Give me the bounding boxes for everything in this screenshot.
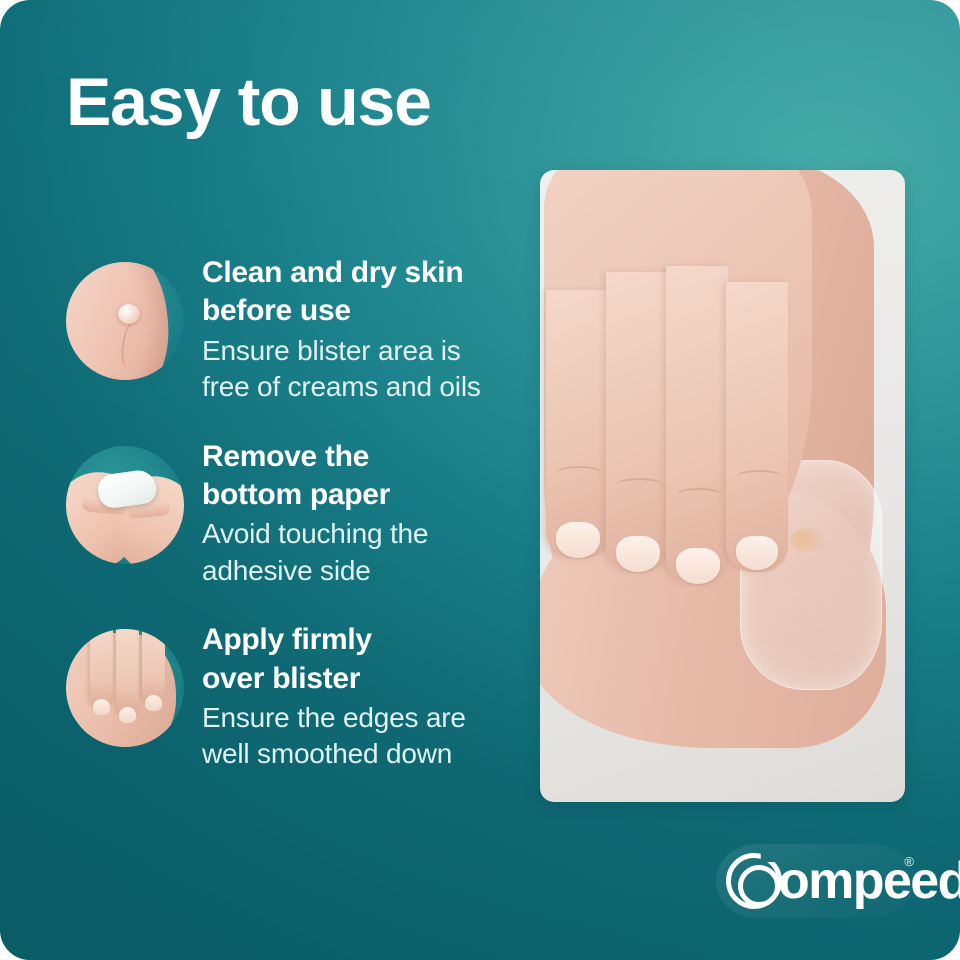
finger-shape bbox=[116, 629, 139, 717]
finger-shape bbox=[666, 266, 728, 584]
blister-shape bbox=[118, 304, 140, 324]
fingernail-shape bbox=[676, 548, 720, 584]
fingernail-shape bbox=[119, 707, 136, 723]
fingers-pressing-heel-thumb bbox=[66, 629, 184, 747]
finger-shape bbox=[546, 290, 612, 558]
logo-wordmark: ompeed bbox=[778, 851, 960, 911]
finger-shape bbox=[142, 629, 165, 705]
step-description: Ensure blister area is free of creams an… bbox=[202, 333, 481, 406]
blister-under-plaster bbox=[790, 528, 824, 552]
step-text-block: Clean and dry skin before use Ensure bli… bbox=[202, 252, 481, 406]
knuckle-crease bbox=[676, 488, 722, 502]
inner-o-shape bbox=[738, 865, 780, 907]
fingernail-shape bbox=[145, 695, 162, 711]
compeed-logo: ompeed ® bbox=[700, 838, 920, 924]
page-title: Easy to use bbox=[66, 68, 431, 137]
hands-peeling-plaster-thumb bbox=[66, 446, 184, 564]
finger-shape bbox=[606, 272, 670, 572]
finger-shape bbox=[90, 629, 113, 709]
step-title: Remove the bottom paper bbox=[202, 438, 428, 515]
heel-with-blister-thumb bbox=[66, 262, 184, 380]
compeed-c-mark-icon bbox=[726, 853, 782, 909]
step-text-block: Apply firmly over blister Ensure the edg… bbox=[202, 619, 466, 773]
registered-trademark-symbol: ® bbox=[904, 854, 914, 869]
knuckle-crease bbox=[556, 466, 602, 480]
list-item: Apply firmly over blister Ensure the edg… bbox=[66, 619, 536, 773]
step-description: Ensure the edges are well smoothed down bbox=[202, 700, 466, 773]
fingernail-shape bbox=[616, 536, 660, 572]
step-text-block: Remove the bottom paper Avoid touching t… bbox=[202, 436, 428, 590]
step-description: Avoid touching the adhesive side bbox=[202, 516, 428, 589]
step-title: Apply firmly over blister bbox=[202, 621, 466, 698]
list-item: Clean and dry skin before use Ensure bli… bbox=[66, 252, 536, 406]
fingernail-shape bbox=[93, 699, 110, 715]
knuckle-crease bbox=[736, 470, 782, 484]
knuckle-crease bbox=[616, 478, 662, 492]
poster-canvas: Easy to use Clean and dry skin before us… bbox=[0, 0, 960, 960]
steps-list: Clean and dry skin before use Ensure bli… bbox=[66, 252, 536, 803]
plaster-core-highlight bbox=[762, 600, 858, 670]
finger-shape bbox=[726, 282, 788, 572]
fingernail-shape bbox=[556, 522, 600, 558]
list-item: Remove the bottom paper Avoid touching t… bbox=[66, 436, 536, 590]
fingernail-shape bbox=[736, 536, 778, 570]
hero-photo bbox=[540, 170, 905, 802]
step-title: Clean and dry skin before use bbox=[202, 254, 481, 331]
